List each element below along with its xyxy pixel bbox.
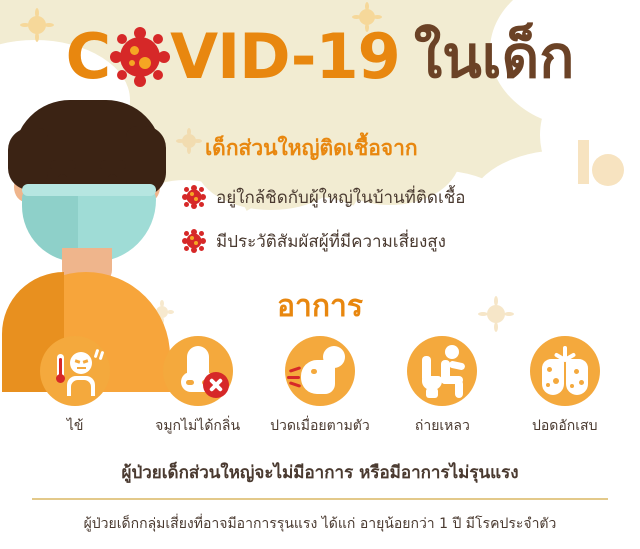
list-item-label: อยู่ใกล้ชิดกับผู้ใหญ่ในบ้านที่ติดเชื้อ (216, 184, 466, 211)
fever-thermometer-icon (40, 336, 110, 406)
symptom-item-fever: ไข้ (19, 336, 131, 437)
symptom-label: จมูกไม่ได้กลิ่น (155, 415, 240, 437)
face-mask-top-band (22, 184, 156, 196)
virus-icon (111, 28, 169, 86)
virus-icon (182, 229, 206, 253)
transmission-bullet-list: อยู่ใกล้ชิดกับผู้ใหญ่ในบ้านที่ติดเชื้อ ม… (182, 182, 602, 270)
title-thai: ในเด็ก (414, 28, 575, 86)
lungs-pneumonia-icon (530, 336, 600, 406)
infographic-poster: C VID-19 ในเด็ก (0, 0, 640, 549)
virus-icon (182, 185, 206, 209)
nose-no-smell-icon (163, 336, 233, 406)
symptom-label: ถ่ายเหลว (415, 415, 470, 437)
decorative-virus-mid-left (176, 128, 202, 154)
symptom-item-smell: จมูกไม่ได้กลิ่น (142, 336, 254, 437)
boy-with-mask-illustration (0, 100, 175, 290)
symptom-label: ปอดอักเสบ (532, 415, 598, 437)
page-title: C VID-19 ในเด็ก (0, 18, 640, 96)
hair-side-left (8, 128, 48, 190)
symptoms-row: ไข้ จมูกไม่ได้กลิ่น ป (0, 336, 640, 437)
note-main-text: ผู้ป่วยเด็กส่วนใหญ่จะไม่มีอาการ หรือมีอา… (0, 459, 640, 486)
symptoms-heading: อาการ (0, 283, 640, 330)
symptom-item-pneumonia: ปอดอักเสบ (509, 336, 621, 437)
list-item-label: มีประวัติสัมผัสผู้ที่มีความเสี่ยงสูง (216, 228, 446, 255)
note-sub-text: ผู้ป่วยเด็กกลุ่มเสี่ยงที่อาจมีอาการรุนแร… (0, 513, 640, 535)
list-item: อยู่ใกล้ชิดกับผู้ใหญ่ในบ้านที่ติดเชื้อ (182, 182, 602, 212)
symptom-label: ปวดเมื่อยตามตัว (270, 415, 370, 437)
symptom-label: ไข้ (67, 415, 84, 437)
title-suffix: VID-19 (170, 26, 400, 88)
transmission-heading: เด็กส่วนใหญ่ติดเชื้อจาก (205, 132, 418, 165)
eyebrow-left (50, 160, 76, 169)
divider (32, 498, 608, 500)
symptom-item-body-ache: ปวดเมื่อยตามตัว (264, 336, 376, 437)
title-prefix: C (66, 26, 111, 88)
diarrhea-toilet-icon (407, 336, 477, 406)
symptom-item-diarrhea: ถ่ายเหลว (386, 336, 498, 437)
list-item: มีประวัติสัมผัสผู้ที่มีความเสี่ยงสูง (182, 226, 602, 256)
body-ache-cough-icon (285, 336, 355, 406)
eyebrow-right (100, 160, 126, 169)
